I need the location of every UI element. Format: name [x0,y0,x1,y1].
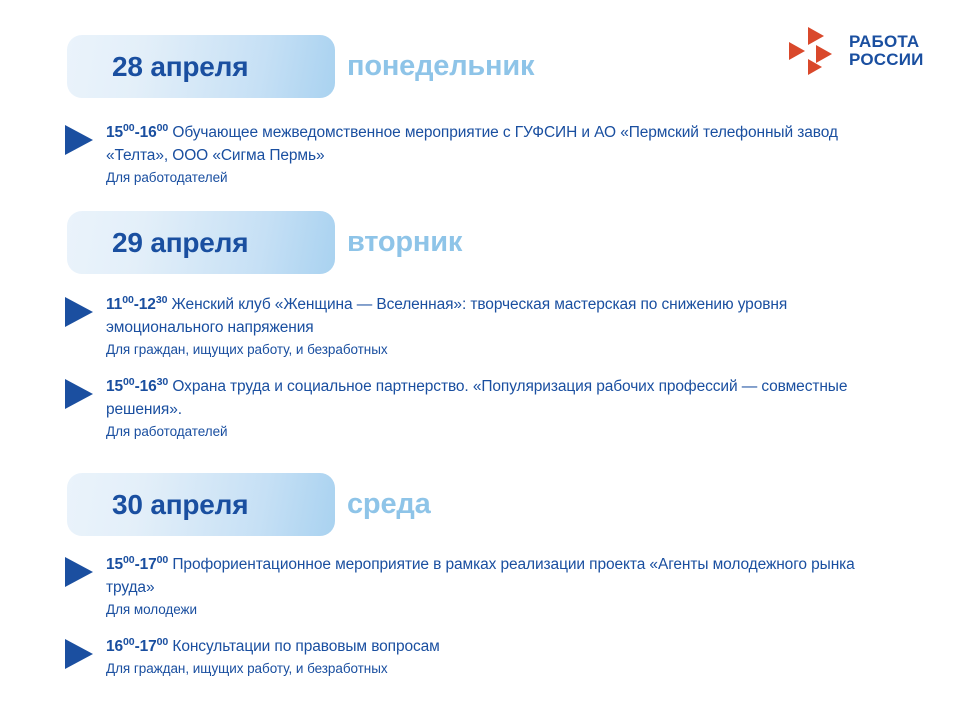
event-time: 1100-1230 [106,296,167,313]
event-title: 1600-1700 Консультации по правовым вопро… [106,635,896,658]
triangle-bullet-icon [62,295,96,329]
event-item: 1100-1230 Женский клуб «Женщина — Вселен… [0,292,960,360]
event-audience: Для работодателей [106,422,896,442]
event-time: 1600-1700 [106,638,168,655]
event-body: 1500-1630 Охрана труда и социальное парт… [106,374,896,442]
event-audience: Для граждан, ищущих работу, и безработны… [106,340,896,360]
event-item: 1600-1700 Консультации по правовым вопро… [0,634,960,679]
day-block: 29 апрелявторник [0,211,960,274]
event-body: 1600-1700 Консультации по правовым вопро… [106,634,896,679]
event-item: 1500-1700 Профориентационное мероприятие… [0,552,960,620]
event-time: 1500-1600 [106,124,168,141]
event-title-text: Обучающее межведомственное мероприятие с… [106,124,838,164]
event-body: 1500-1700 Профориентационное мероприятие… [106,552,896,620]
event-audience: Для работодателей [106,168,896,188]
event-title-text: Охрана труда и социальное партнерство. «… [106,378,847,418]
event-title: 1500-1600 Обучающее межведомственное мер… [106,121,896,167]
day-block: 28 апреляпонедельник [0,35,960,98]
triangle-bullet-icon [62,555,96,589]
event-body: 1100-1230 Женский клуб «Женщина — Вселен… [106,292,896,360]
event-audience: Для молодежи [106,600,896,620]
event-item: 1500-1630 Охрана труда и социальное парт… [0,374,960,442]
event-title-text: Консультации по правовым вопросам [168,638,440,655]
event-title: 1500-1700 Профориентационное мероприятие… [106,553,896,599]
weekday-label: понедельник [347,50,534,83]
day-header: 30 апрелясреда [0,473,960,536]
date-label: 30 апреля [112,489,248,521]
day-block: 30 апрелясреда [0,473,960,536]
weekday-label: вторник [347,226,462,259]
event-title-text: Женский клуб «Женщина — Вселенная»: твор… [106,296,787,336]
date-pill: 28 апреля [67,35,335,98]
event-time: 1500-1700 [106,556,168,573]
event-row: 1500-1630 Охрана труда и социальное парт… [0,374,960,442]
event-row: 1100-1230 Женский клуб «Женщина — Вселен… [0,292,960,360]
event-body: 1500-1600 Обучающее межведомственное мер… [106,120,896,188]
triangle-bullet-icon [62,377,96,411]
day-header: 28 апреляпонедельник [0,35,960,98]
event-title: 1500-1630 Охрана труда и социальное парт… [106,375,896,421]
date-pill: 29 апреля [67,211,335,274]
event-row: 1500-1600 Обучающее межведомственное мер… [0,120,960,188]
event-audience: Для граждан, ищущих работу, и безработны… [106,659,896,679]
event-row: 1600-1700 Консультации по правовым вопро… [0,634,960,679]
event-item: 1500-1600 Обучающее межведомственное мер… [0,120,960,188]
event-title: 1100-1230 Женский клуб «Женщина — Вселен… [106,293,896,339]
triangle-bullet-icon [62,637,96,671]
weekday-label: среда [347,488,431,521]
event-time: 1500-1630 [106,378,168,395]
event-row: 1500-1700 Профориентационное мероприятие… [0,552,960,620]
triangle-bullet-icon [62,123,96,157]
date-label: 29 апреля [112,227,248,259]
event-title-text: Профориентационное мероприятие в рамках … [106,556,855,596]
date-label: 28 апреля [112,51,248,83]
day-header: 29 апрелявторник [0,211,960,274]
date-pill: 30 апреля [67,473,335,536]
